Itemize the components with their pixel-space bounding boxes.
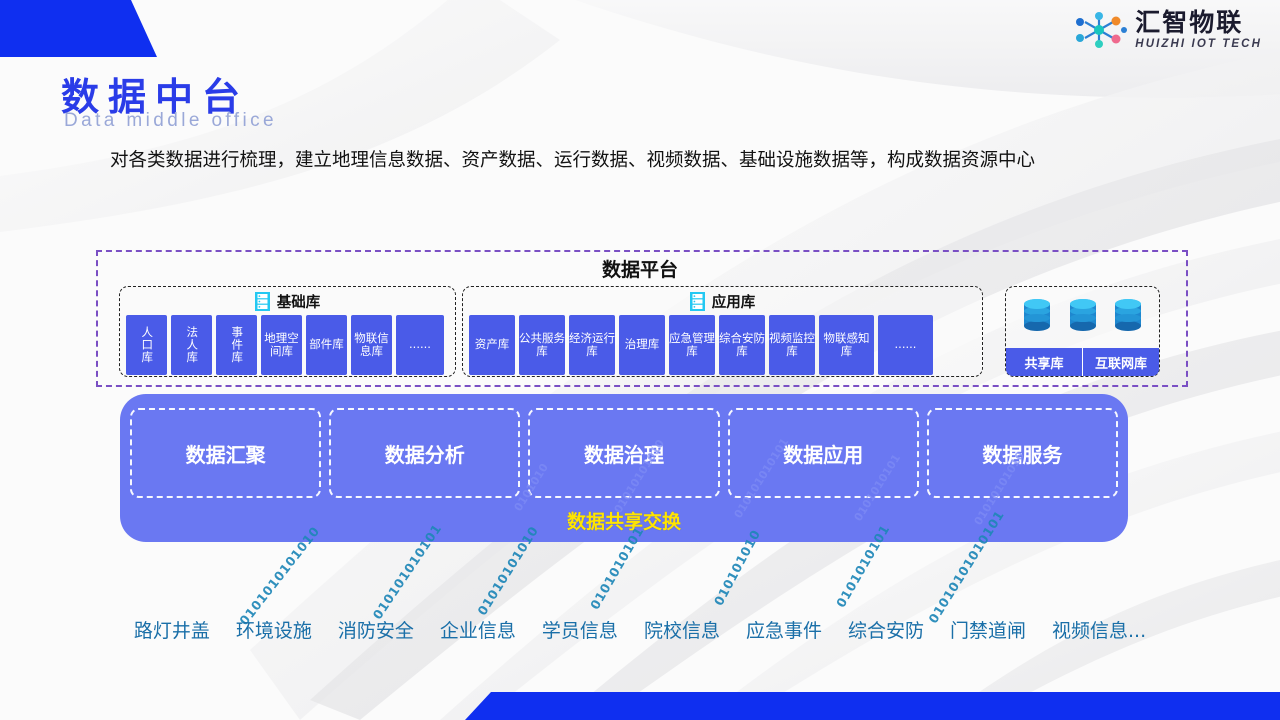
library-chip[interactable]: 应急管理库 [669, 315, 715, 375]
db-label-shared[interactable]: 共享库 [1006, 348, 1082, 376]
domain-tag-9[interactable]: 视频信息... [1052, 616, 1146, 643]
capability-box-analysis[interactable]: 数据分析 [329, 408, 520, 498]
domain-tag-7[interactable]: 综合安防 [848, 616, 924, 643]
library-chip[interactable]: 物联信息库 [351, 315, 392, 375]
library-group-title: 应用库 [712, 291, 756, 312]
domain-tag-4[interactable]: 学员信息 [542, 616, 618, 643]
shared-database-panel: 共享库 互联网库 [1005, 286, 1160, 377]
server-rack-icon [255, 292, 270, 311]
database-cylinder-icon [1068, 298, 1098, 337]
page-subtitle: Data middle office [64, 110, 277, 132]
library-chip[interactable]: 法人库 [171, 315, 212, 375]
capability-panel: 01010101010 010101010101 0101010101 0101… [120, 394, 1128, 542]
library-chip[interactable]: ...... [396, 315, 444, 375]
brand-name-en: HUIZHI IOT TECH [1135, 39, 1262, 51]
domain-tag-0[interactable]: 路灯井盖 [134, 616, 210, 643]
domain-tag-1[interactable]: 环境设施 [236, 616, 312, 643]
server-rack-icon [690, 292, 705, 311]
database-cylinder-icon [1022, 298, 1052, 337]
database-cylinder-icon [1113, 298, 1143, 337]
library-chip[interactable]: 治理库 [619, 315, 665, 375]
library-group-base: 基础库 人口库 法人库 事件库 地理空间库 部件库 物联信息库 ...... [119, 286, 456, 377]
brand-logo: 汇智物联 HUIZHI IOT TECH [1075, 10, 1262, 51]
database-label-row: 共享库 互联网库 [1006, 348, 1159, 376]
library-chip-list: 资产库 公共服务库 经济运行库 治理库 应急管理库 综合安防库 视频监控库 物联… [463, 315, 982, 375]
corner-accent-bottom-right [455, 692, 1280, 720]
domain-tag-6[interactable]: 应急事件 [746, 616, 822, 643]
molecule-network-icon [1075, 10, 1127, 50]
library-chip[interactable]: 人口库 [126, 315, 167, 375]
library-chip[interactable]: 地理空间库 [261, 315, 302, 375]
library-group-header: 基础库 [120, 290, 455, 313]
library-chip-list: 人口库 法人库 事件库 地理空间库 部件库 物联信息库 ...... [120, 315, 455, 375]
capability-box-row: 数据汇聚 数据分析 数据治理 数据应用 数据服务 [120, 394, 1128, 498]
library-chip[interactable]: 综合安防库 [719, 315, 765, 375]
domain-tag-2[interactable]: 消防安全 [338, 616, 414, 643]
capability-box-governance[interactable]: 数据治理 [528, 408, 719, 498]
library-group-title: 基础库 [277, 291, 321, 312]
library-chip[interactable]: ...... [878, 315, 933, 375]
domain-tag-8[interactable]: 门禁道闸 [950, 616, 1026, 643]
library-group-application: 应用库 资产库 公共服务库 经济运行库 治理库 应急管理库 综合安防库 视频监控… [462, 286, 983, 377]
capability-box-application[interactable]: 数据应用 [728, 408, 919, 498]
domain-tag-row: 路灯井盖环境设施消防安全企业信息学员信息院校信息应急事件综合安防门禁道闸视频信息… [0, 616, 1280, 643]
database-icon-row [1006, 287, 1159, 348]
capability-box-aggregation[interactable]: 数据汇聚 [130, 408, 321, 498]
library-chip[interactable]: 部件库 [306, 315, 347, 375]
data-platform-title: 数据平台 [0, 255, 1280, 282]
library-group-header: 应用库 [463, 290, 982, 313]
library-chip[interactable]: 事件库 [216, 315, 257, 375]
brand-name-cn: 汇智物联 [1135, 10, 1262, 35]
capability-box-service[interactable]: 数据服务 [927, 408, 1118, 498]
page-description: 对各类数据进行梳理，建立地理信息数据、资产数据、运行数据、视频数据、基础设施数据… [110, 139, 1180, 183]
library-chip[interactable]: 视频监控库 [769, 315, 815, 375]
library-chip[interactable]: 经济运行库 [569, 315, 615, 375]
domain-tag-5[interactable]: 院校信息 [644, 616, 720, 643]
library-chip[interactable]: 公共服务库 [519, 315, 565, 375]
library-chip[interactable]: 资产库 [469, 315, 515, 375]
capability-footer-label: 数据共享交换 [120, 507, 1128, 534]
library-chip[interactable]: 物联感知库 [819, 315, 874, 375]
db-label-internet[interactable]: 互联网库 [1082, 348, 1159, 376]
domain-tag-3[interactable]: 企业信息 [440, 616, 516, 643]
